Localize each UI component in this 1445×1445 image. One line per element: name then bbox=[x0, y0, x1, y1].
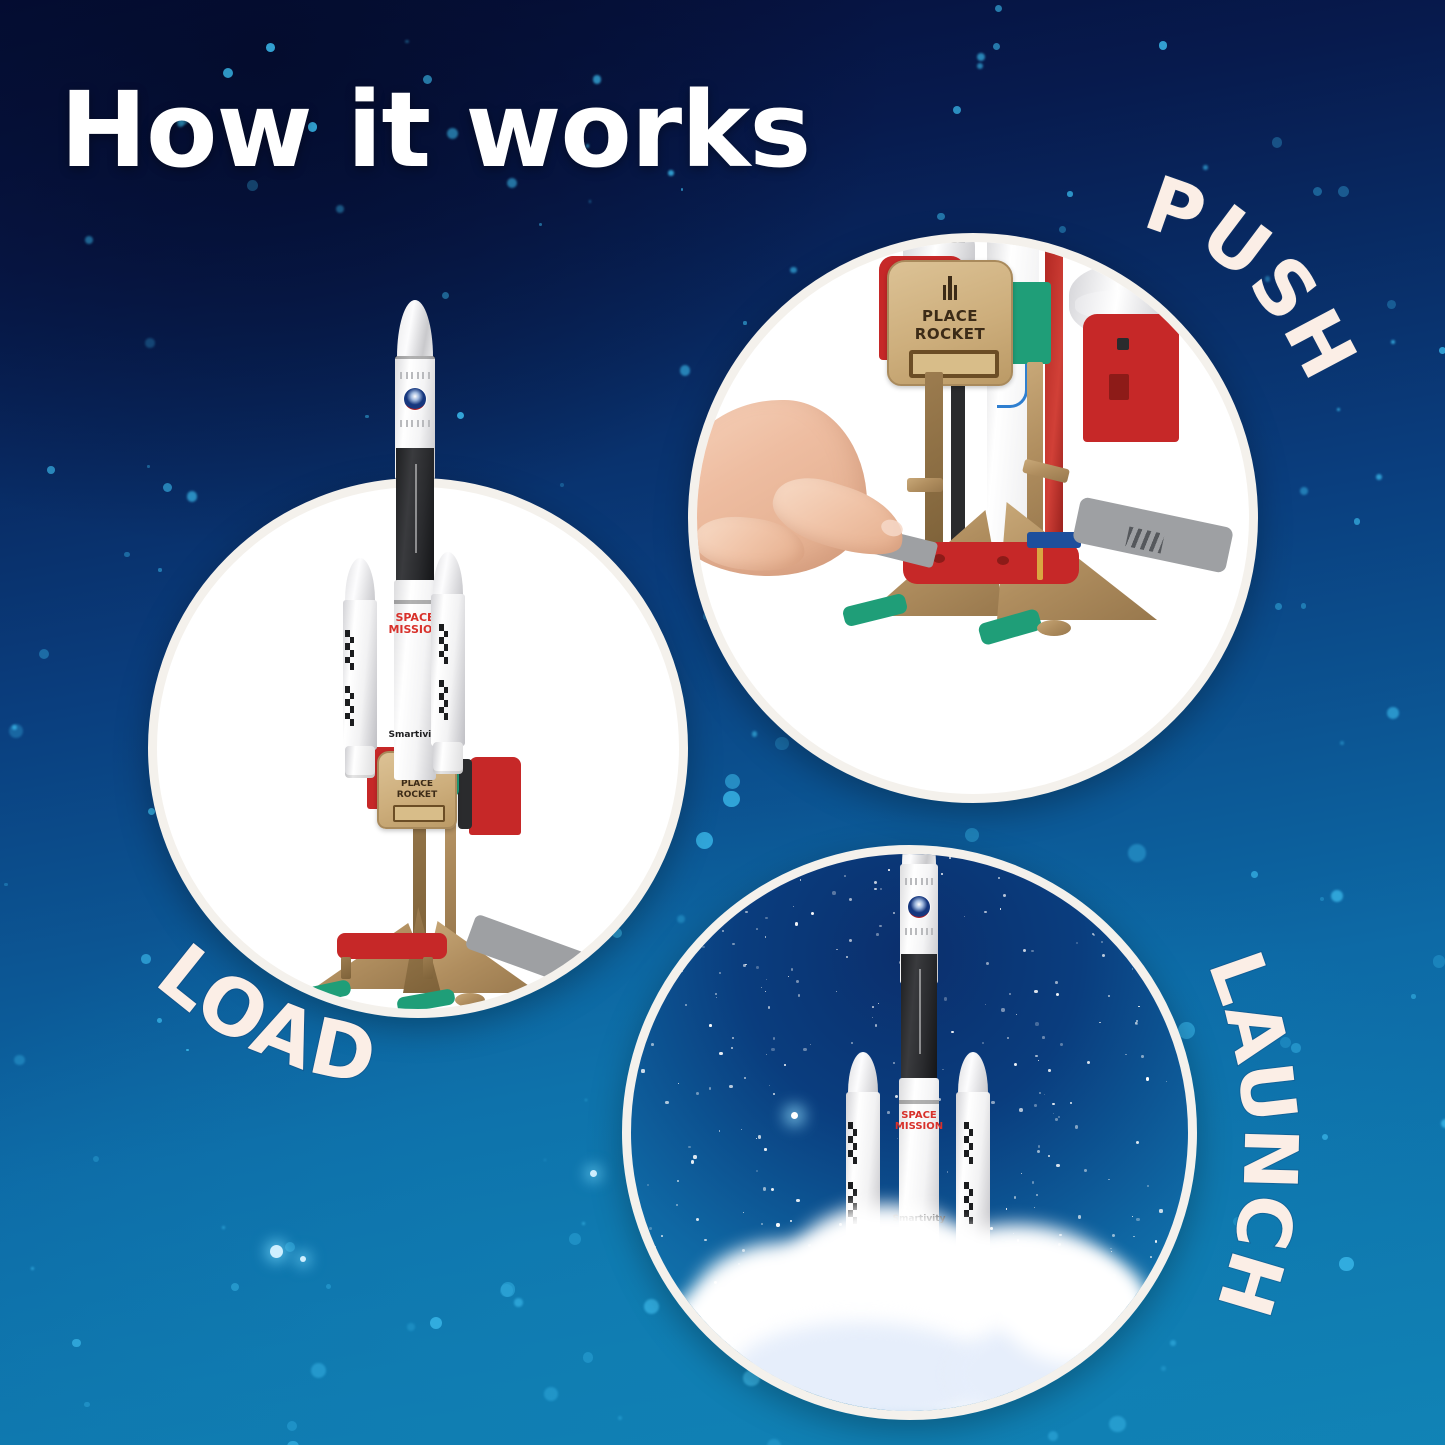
bokeh-dot bbox=[1331, 890, 1343, 902]
bokeh-dot bbox=[1280, 1037, 1291, 1048]
star bbox=[1107, 907, 1111, 911]
star bbox=[677, 1180, 679, 1182]
star bbox=[1052, 1103, 1054, 1105]
star bbox=[1112, 1234, 1115, 1237]
star bbox=[731, 1047, 733, 1049]
star bbox=[1062, 870, 1065, 873]
star bbox=[702, 946, 704, 948]
bokeh-dot bbox=[287, 1441, 298, 1445]
bokeh-dot bbox=[696, 832, 713, 849]
rocket-model-launch: SPACEMISSION Smartivity bbox=[819, 845, 1019, 1334]
bokeh-dot bbox=[995, 5, 1002, 12]
star bbox=[647, 1184, 649, 1186]
star bbox=[681, 970, 683, 972]
star bbox=[1188, 956, 1189, 957]
star bbox=[1147, 1185, 1149, 1187]
booster-left-launch bbox=[839, 1052, 887, 1332]
bokeh-dot bbox=[1109, 1416, 1126, 1433]
star bbox=[1064, 1274, 1067, 1277]
bokeh-dot bbox=[937, 213, 945, 221]
bokeh-dot bbox=[1048, 1431, 1058, 1441]
bokeh-dot bbox=[953, 106, 961, 114]
star bbox=[1157, 921, 1158, 922]
star bbox=[1177, 974, 1180, 977]
bokeh-dot bbox=[1272, 137, 1282, 147]
rocket-glyph-icon bbox=[412, 761, 423, 774]
star bbox=[1141, 1055, 1144, 1058]
star bbox=[1037, 1150, 1040, 1153]
star bbox=[712, 894, 714, 896]
star bbox=[784, 1064, 786, 1066]
star bbox=[1100, 862, 1103, 865]
booster-right-launch bbox=[949, 1052, 997, 1332]
bokeh-dot bbox=[977, 53, 985, 61]
star bbox=[1035, 1022, 1039, 1026]
star bbox=[1039, 1092, 1041, 1094]
bokeh-dot bbox=[589, 200, 592, 203]
bokeh-dot bbox=[457, 412, 464, 419]
star bbox=[764, 1148, 766, 1150]
star bbox=[1101, 1275, 1103, 1277]
page-title: How it works bbox=[60, 78, 810, 182]
star bbox=[1031, 950, 1034, 953]
bokeh-dot bbox=[977, 63, 983, 69]
star bbox=[1113, 1274, 1116, 1277]
star bbox=[1164, 977, 1167, 980]
bokeh-dot bbox=[1320, 897, 1324, 901]
star bbox=[769, 1085, 770, 1086]
bokeh-glow-dot bbox=[590, 1170, 597, 1177]
bokeh-dot bbox=[725, 774, 740, 789]
star bbox=[1036, 1194, 1038, 1196]
star bbox=[1038, 1145, 1041, 1148]
star bbox=[729, 1085, 732, 1088]
star bbox=[1188, 1071, 1191, 1074]
star bbox=[716, 997, 717, 998]
bokeh-dot bbox=[585, 1099, 587, 1101]
bokeh-dot bbox=[147, 465, 149, 467]
star bbox=[762, 866, 765, 869]
star bbox=[791, 968, 793, 970]
bokeh-dot bbox=[163, 483, 172, 492]
star bbox=[761, 1223, 763, 1225]
star bbox=[696, 1218, 699, 1221]
star bbox=[719, 972, 721, 974]
star bbox=[732, 1037, 734, 1039]
bokeh-dot bbox=[430, 1317, 442, 1329]
star bbox=[681, 898, 683, 900]
star bbox=[1056, 1164, 1060, 1168]
bokeh-dot bbox=[407, 1323, 414, 1330]
star bbox=[793, 906, 795, 908]
bokeh-dot bbox=[1387, 300, 1396, 309]
star bbox=[768, 1006, 770, 1008]
bokeh-dot bbox=[1275, 603, 1282, 610]
star bbox=[761, 987, 762, 988]
launch-button-load[interactable] bbox=[337, 933, 447, 959]
star bbox=[744, 1077, 746, 1079]
star bbox=[771, 1188, 774, 1191]
star bbox=[678, 1083, 679, 1084]
bokeh-dot bbox=[93, 1156, 99, 1162]
star bbox=[1058, 1243, 1061, 1246]
star bbox=[773, 1037, 776, 1040]
bokeh-dot bbox=[336, 205, 344, 213]
star bbox=[742, 1249, 746, 1253]
star bbox=[1053, 1113, 1054, 1114]
star bbox=[804, 1282, 806, 1284]
star bbox=[1150, 938, 1153, 941]
bokeh-dot bbox=[767, 1439, 780, 1445]
star bbox=[766, 1054, 767, 1055]
star bbox=[1151, 945, 1153, 947]
bokeh-dot bbox=[365, 415, 369, 419]
bokeh-dot bbox=[1337, 408, 1340, 411]
star bbox=[1019, 1108, 1023, 1112]
star bbox=[766, 979, 768, 981]
star bbox=[1059, 1234, 1061, 1236]
star bbox=[1060, 1043, 1063, 1046]
star bbox=[732, 943, 735, 946]
bokeh-dot bbox=[1391, 340, 1395, 344]
rocket-brand-label-launch: Smartivity bbox=[893, 1214, 946, 1224]
step-circle-load: PLACE ROCKET bbox=[148, 478, 688, 1018]
bokeh-dot bbox=[1354, 518, 1361, 525]
star bbox=[1056, 993, 1059, 996]
bokeh-dot bbox=[222, 1226, 225, 1229]
bokeh-dot bbox=[775, 737, 789, 751]
star bbox=[1048, 1155, 1050, 1157]
star bbox=[1042, 1036, 1045, 1039]
star bbox=[1058, 1116, 1060, 1118]
bokeh-dot bbox=[993, 43, 1000, 50]
hand-pressing bbox=[688, 400, 967, 600]
star bbox=[796, 980, 799, 983]
bokeh-dot bbox=[145, 338, 155, 348]
star bbox=[1035, 1279, 1037, 1281]
star bbox=[745, 911, 748, 914]
bokeh-dot bbox=[680, 365, 691, 376]
bokeh-dot bbox=[187, 491, 197, 501]
star bbox=[1132, 1216, 1133, 1217]
star bbox=[1070, 1102, 1072, 1104]
star bbox=[771, 1048, 774, 1051]
bokeh-dot bbox=[47, 466, 55, 474]
star bbox=[765, 917, 767, 919]
bokeh-dot bbox=[569, 1233, 581, 1245]
star bbox=[808, 1244, 811, 1247]
bokeh-dot bbox=[1387, 707, 1399, 719]
bokeh-dot bbox=[311, 1363, 327, 1379]
star bbox=[684, 865, 687, 868]
bokeh-dot bbox=[618, 1416, 622, 1420]
bokeh-dot bbox=[1291, 1043, 1300, 1052]
rocket-glyph-icon-push bbox=[943, 276, 957, 300]
bokeh-dot bbox=[285, 1242, 295, 1252]
star bbox=[763, 1187, 766, 1190]
bokeh-dot bbox=[723, 791, 740, 808]
bokeh-dot bbox=[752, 731, 757, 736]
bright-star bbox=[791, 1112, 798, 1119]
bokeh-dot bbox=[1251, 871, 1258, 878]
bokeh-dot bbox=[1159, 41, 1168, 50]
step-circle-push: PLACE ROCKET bbox=[688, 233, 1258, 803]
star bbox=[795, 922, 798, 925]
star bbox=[1141, 885, 1143, 887]
star bbox=[676, 1204, 678, 1206]
star bbox=[714, 1281, 717, 1284]
star bbox=[679, 957, 680, 958]
star bbox=[755, 857, 758, 860]
star bbox=[750, 857, 751, 858]
star bbox=[743, 1212, 744, 1213]
star bbox=[1136, 1218, 1139, 1221]
star bbox=[1093, 934, 1095, 936]
star bbox=[1166, 1081, 1168, 1083]
star bbox=[636, 1218, 639, 1221]
bokeh-glow-dot bbox=[270, 1245, 283, 1258]
bokeh-dot bbox=[500, 1284, 513, 1297]
bokeh-dot bbox=[1059, 226, 1066, 233]
bokeh-dot bbox=[326, 1284, 331, 1289]
bokeh-dot bbox=[1301, 603, 1306, 608]
star bbox=[1032, 1181, 1034, 1183]
star bbox=[671, 865, 673, 867]
star bbox=[700, 867, 703, 870]
bokeh-dot bbox=[743, 321, 746, 324]
bokeh-dot bbox=[1322, 1134, 1328, 1140]
bokeh-dot bbox=[442, 292, 449, 299]
star bbox=[685, 1004, 687, 1006]
star bbox=[722, 930, 724, 932]
star bbox=[696, 1092, 699, 1095]
star bbox=[1034, 990, 1037, 993]
star bbox=[796, 1199, 799, 1202]
bokeh-dot bbox=[124, 552, 129, 557]
launch-pad-assembly-load: PLACE ROCKET bbox=[217, 737, 647, 1017]
star bbox=[1138, 1006, 1139, 1007]
star bbox=[1078, 1215, 1081, 1218]
mission-patch-icon bbox=[404, 388, 426, 410]
bokeh-dot bbox=[157, 1018, 162, 1023]
bokeh-dot bbox=[1265, 276, 1270, 281]
star bbox=[631, 1019, 633, 1021]
bokeh-dot bbox=[72, 1339, 80, 1347]
star bbox=[1034, 1207, 1035, 1208]
star bbox=[758, 1135, 761, 1138]
star bbox=[727, 901, 730, 904]
star bbox=[719, 1130, 721, 1132]
bokeh-dot bbox=[141, 954, 151, 964]
star bbox=[810, 1044, 811, 1045]
star bbox=[1038, 1060, 1039, 1061]
bokeh-dot bbox=[544, 1387, 558, 1401]
bokeh-dot bbox=[9, 724, 23, 738]
star bbox=[1159, 1209, 1162, 1212]
bokeh-dot bbox=[1339, 1257, 1354, 1272]
bokeh-dot bbox=[14, 1055, 24, 1065]
bokeh-dot bbox=[1439, 347, 1445, 354]
star bbox=[1099, 1022, 1100, 1023]
star bbox=[649, 1227, 652, 1230]
star bbox=[1177, 1252, 1180, 1255]
star bbox=[654, 1246, 656, 1248]
star bbox=[811, 912, 814, 915]
star bbox=[1078, 886, 1079, 887]
star bbox=[1076, 942, 1078, 944]
place-rocket-line2-push: ROCKET bbox=[889, 326, 1011, 343]
star bbox=[765, 936, 767, 938]
star bbox=[743, 964, 746, 967]
bokeh-dot bbox=[514, 1298, 523, 1307]
bokeh-dot bbox=[158, 568, 161, 571]
star bbox=[1021, 1173, 1022, 1174]
star bbox=[1155, 1240, 1157, 1242]
star bbox=[1181, 1022, 1183, 1024]
bokeh-dot bbox=[1067, 191, 1073, 197]
star bbox=[1133, 1236, 1134, 1237]
bokeh-dot bbox=[1203, 165, 1208, 170]
star bbox=[773, 1093, 775, 1095]
bokeh-dot bbox=[1313, 187, 1322, 196]
bokeh-dot bbox=[12, 725, 18, 731]
star bbox=[790, 1220, 791, 1221]
star bbox=[1075, 1125, 1078, 1128]
star bbox=[1035, 1055, 1038, 1058]
star bbox=[765, 991, 766, 992]
star bbox=[1102, 954, 1105, 957]
star bbox=[1101, 941, 1103, 943]
star bbox=[1044, 1094, 1045, 1095]
bokeh-dot bbox=[231, 1283, 239, 1291]
star bbox=[693, 1155, 696, 1158]
bokeh-dot bbox=[1433, 955, 1445, 968]
star bbox=[756, 928, 758, 930]
star bbox=[715, 993, 717, 995]
bokeh-dot bbox=[31, 1267, 34, 1270]
place-rocket-sign-load: PLACE ROCKET bbox=[377, 751, 457, 829]
star bbox=[1132, 968, 1133, 969]
star bbox=[1146, 1077, 1149, 1080]
bokeh-dot bbox=[1411, 994, 1415, 998]
star bbox=[1125, 1054, 1127, 1056]
star bbox=[651, 1043, 654, 1046]
bokeh-dot bbox=[39, 649, 50, 660]
star bbox=[788, 976, 789, 977]
place-rocket-sign-push: PLACE ROCKET bbox=[887, 260, 1013, 386]
bokeh-dot bbox=[539, 223, 542, 226]
star bbox=[688, 1146, 690, 1148]
bokeh-dot bbox=[544, 1159, 546, 1161]
star bbox=[1023, 949, 1026, 952]
star bbox=[756, 966, 759, 969]
bokeh-dot bbox=[186, 1049, 189, 1052]
bokeh-dot bbox=[1233, 1217, 1242, 1226]
step-label-launch-text: LAUNCH bbox=[1191, 941, 1313, 1327]
place-rocket-line2: ROCKET bbox=[379, 790, 455, 800]
bokeh-dot bbox=[1338, 186, 1349, 197]
bokeh-dot bbox=[287, 1421, 298, 1432]
bokeh-dot bbox=[85, 236, 93, 244]
bokeh-dot bbox=[4, 883, 7, 886]
bokeh-dot bbox=[84, 1402, 90, 1408]
star bbox=[716, 912, 718, 914]
bokeh-dot bbox=[1340, 741, 1344, 745]
star bbox=[1168, 921, 1170, 923]
bokeh-glow-dot bbox=[300, 1256, 306, 1262]
mission-patch-icon-launch bbox=[908, 896, 930, 918]
star bbox=[803, 1048, 806, 1051]
star bbox=[641, 1069, 644, 1072]
star bbox=[1108, 1179, 1109, 1180]
star bbox=[776, 1223, 779, 1226]
red-clamp-right-push bbox=[1083, 314, 1179, 442]
place-rocket-line1: PLACE bbox=[379, 779, 455, 789]
bokeh-dot bbox=[965, 828, 979, 842]
star bbox=[1175, 1267, 1179, 1271]
star bbox=[691, 1160, 694, 1163]
star bbox=[1055, 1118, 1058, 1121]
star bbox=[1136, 1141, 1139, 1144]
star bbox=[642, 998, 645, 1001]
star bbox=[1108, 995, 1109, 996]
star bbox=[756, 1138, 757, 1139]
star bbox=[1116, 870, 1118, 872]
star bbox=[1181, 885, 1183, 887]
star bbox=[1143, 878, 1146, 881]
bokeh-dot bbox=[1441, 1119, 1445, 1128]
star bbox=[738, 1263, 740, 1265]
star bbox=[1034, 1104, 1037, 1107]
star bbox=[756, 1170, 758, 1172]
bokeh-dot bbox=[790, 267, 797, 274]
star bbox=[741, 1129, 742, 1130]
svg-text:LAUNCH: LAUNCH bbox=[1191, 941, 1313, 1327]
bokeh-dot bbox=[405, 40, 409, 44]
bokeh-dot bbox=[266, 43, 275, 52]
rocket-space-mission-label-launch: SPACEMISSION bbox=[895, 1110, 943, 1132]
how-it-works-panel: How it works PLACE ROCKET bbox=[0, 0, 1445, 1445]
star bbox=[1135, 1022, 1137, 1024]
star bbox=[800, 879, 802, 881]
bokeh-dot bbox=[501, 1282, 516, 1297]
star bbox=[715, 860, 718, 863]
bokeh-dot bbox=[1376, 474, 1382, 480]
star bbox=[704, 1239, 706, 1241]
star bbox=[1084, 1169, 1087, 1172]
bokeh-dot bbox=[560, 483, 565, 488]
star bbox=[1110, 1248, 1112, 1250]
star bbox=[1048, 1069, 1051, 1072]
star bbox=[1120, 872, 1122, 874]
star bbox=[1087, 1061, 1090, 1064]
star bbox=[709, 1024, 712, 1027]
star bbox=[709, 1087, 711, 1089]
star bbox=[1055, 981, 1058, 984]
bokeh-dot bbox=[1300, 487, 1308, 495]
step-circle-launch: SPACEMISSION Smartivity bbox=[622, 845, 1197, 1420]
star bbox=[798, 994, 800, 996]
star bbox=[719, 1052, 722, 1055]
star bbox=[665, 1101, 668, 1104]
star bbox=[637, 1006, 638, 1007]
place-rocket-line1-push: PLACE bbox=[889, 308, 1011, 325]
star bbox=[661, 1235, 663, 1237]
bokeh-dot bbox=[583, 1352, 593, 1362]
bokeh-dot bbox=[582, 1222, 585, 1225]
star bbox=[1150, 1256, 1152, 1258]
star bbox=[1111, 1251, 1113, 1253]
